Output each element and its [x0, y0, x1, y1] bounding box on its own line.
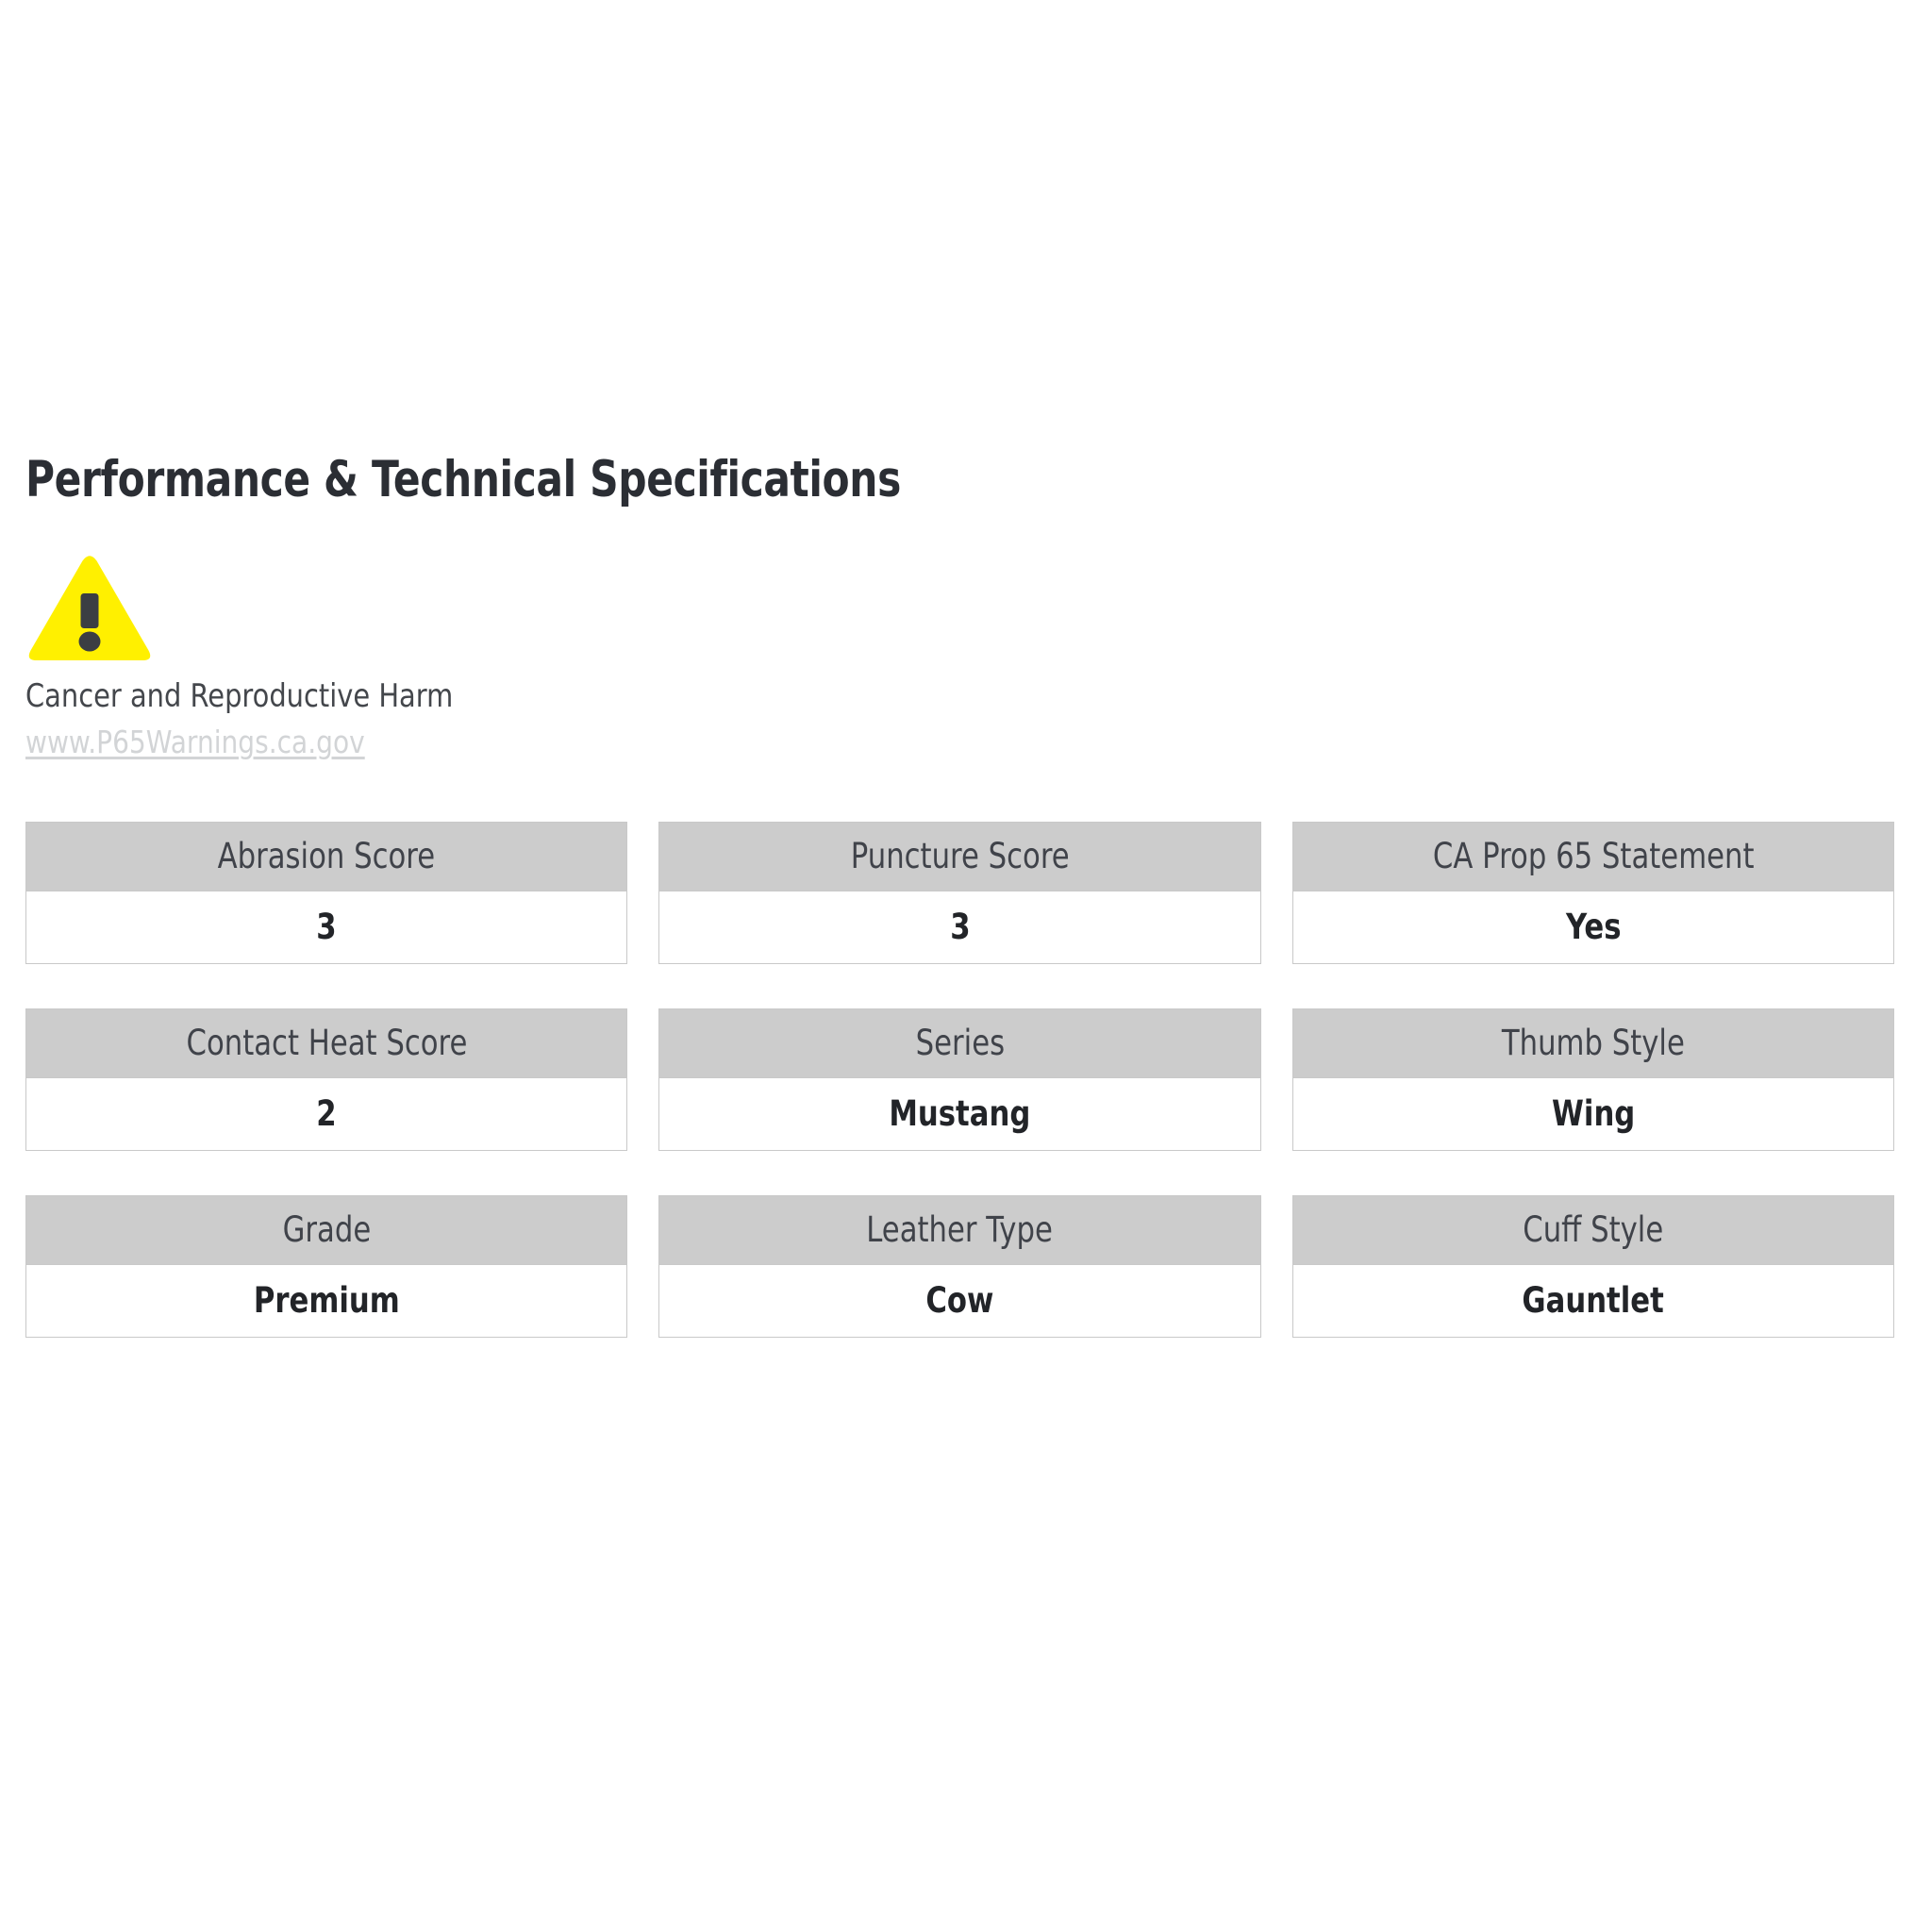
spec-card-value: 3	[316, 908, 336, 946]
prop65-warning-block: Cancer and Reproductive Harm www.P65Warn…	[25, 555, 1894, 763]
spec-card-label: Leather Type	[867, 1211, 1054, 1249]
spec-card-label: Abrasion Score	[218, 838, 436, 875]
spec-card-label: Thumb Style	[1502, 1024, 1685, 1062]
spec-card-header: Contact Heat Score	[26, 1009, 626, 1078]
warning-triangle-icon	[25, 555, 154, 667]
spec-card-value: Yes	[1566, 908, 1622, 946]
prop65-warnings-link[interactable]: www.P65Warnings.ca.gov	[25, 722, 365, 763]
spec-card-body: Mustang	[659, 1078, 1259, 1150]
spec-card-value: Wing	[1552, 1095, 1635, 1133]
spec-card-header: CA Prop 65 Statement	[1293, 823, 1893, 891]
spec-card-value: 2	[316, 1095, 336, 1133]
spec-card-label: Contact Heat Score	[186, 1024, 467, 1062]
page-title: Performance & Technical Specifications	[25, 451, 1521, 509]
spec-card-header: Series	[659, 1009, 1259, 1078]
spec-card-body: Wing	[1293, 1078, 1893, 1150]
spec-card-value: Premium	[254, 1282, 400, 1320]
spec-card: Puncture Score 3	[658, 822, 1260, 964]
spec-card: Contact Heat Score 2	[25, 1008, 627, 1151]
spec-card-body: 2	[26, 1078, 626, 1150]
specifications-content: Performance & Technical Specifications C…	[25, 451, 1894, 1338]
spec-card-label: Puncture Score	[851, 838, 1070, 875]
spec-card-header: Abrasion Score	[26, 823, 626, 891]
spec-card: Grade Premium	[25, 1195, 627, 1338]
spec-card-value: Gauntlet	[1523, 1282, 1664, 1320]
spec-card-label: Grade	[282, 1211, 371, 1249]
spec-card: Abrasion Score 3	[25, 822, 627, 964]
spec-card-body: Gauntlet	[1293, 1265, 1893, 1337]
spec-card: Cuff Style Gauntlet	[1292, 1195, 1894, 1338]
prop65-warning-text: Cancer and Reproductive Harm	[25, 676, 1614, 716]
spec-card-grid: Abrasion Score 3 Puncture Score 3 CA Pro…	[25, 822, 1894, 1338]
spec-card-body: Cow	[659, 1265, 1259, 1337]
spec-card-header: Puncture Score	[659, 823, 1259, 891]
spec-card: Thumb Style Wing	[1292, 1008, 1894, 1151]
spec-card: Series Mustang	[658, 1008, 1260, 1151]
spec-card-body: 3	[26, 891, 626, 963]
spec-card-body: Premium	[26, 1265, 626, 1337]
product-specifications-page: Performance & Technical Specifications C…	[0, 0, 1932, 1932]
spec-card-label: CA Prop 65 Statement	[1432, 838, 1754, 875]
spec-card: Leather Type Cow	[658, 1195, 1260, 1338]
spec-card-header: Thumb Style	[1293, 1009, 1893, 1078]
spec-card-header: Grade	[26, 1196, 626, 1265]
spec-card-value: 3	[950, 908, 970, 946]
spec-card-label: Cuff Style	[1523, 1211, 1663, 1249]
spec-card: CA Prop 65 Statement Yes	[1292, 822, 1894, 964]
spec-card-header: Cuff Style	[1293, 1196, 1893, 1265]
spec-card-body: Yes	[1293, 891, 1893, 963]
spec-card-header: Leather Type	[659, 1196, 1259, 1265]
spec-card-value: Mustang	[890, 1095, 1031, 1133]
spec-card-value: Cow	[925, 1282, 993, 1320]
spec-card-body: 3	[659, 891, 1259, 963]
spec-card-label: Series	[915, 1024, 1004, 1062]
